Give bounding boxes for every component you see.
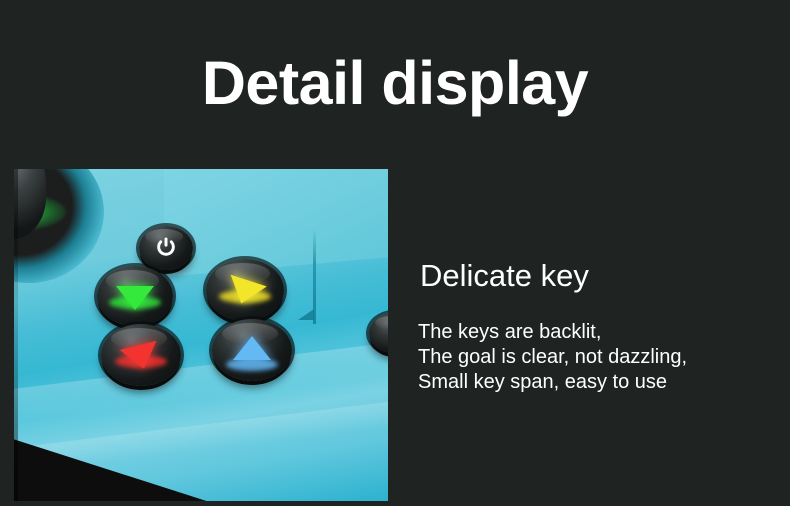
power-icon <box>155 236 177 258</box>
feature-line-3: Small key span, easy to use <box>418 370 687 395</box>
down-button <box>101 324 181 386</box>
feature-line-2: The goal is clear, not dazzling, <box>418 345 687 370</box>
detail-display-page: Detail display <box>0 0 790 506</box>
photo-left-vignette <box>14 169 18 501</box>
controller-seam-notch <box>298 309 314 320</box>
feature-heading: Delicate key <box>420 257 589 295</box>
product-photo <box>14 169 388 501</box>
up-button <box>97 266 173 326</box>
feature-line-1: The keys are backlit, <box>418 320 687 345</box>
power-button <box>139 226 193 270</box>
right-button <box>206 259 284 321</box>
left-button <box>212 319 292 381</box>
feature-description: The keys are backlit, The goal is clear,… <box>418 320 687 395</box>
page-title: Detail display <box>0 48 790 118</box>
